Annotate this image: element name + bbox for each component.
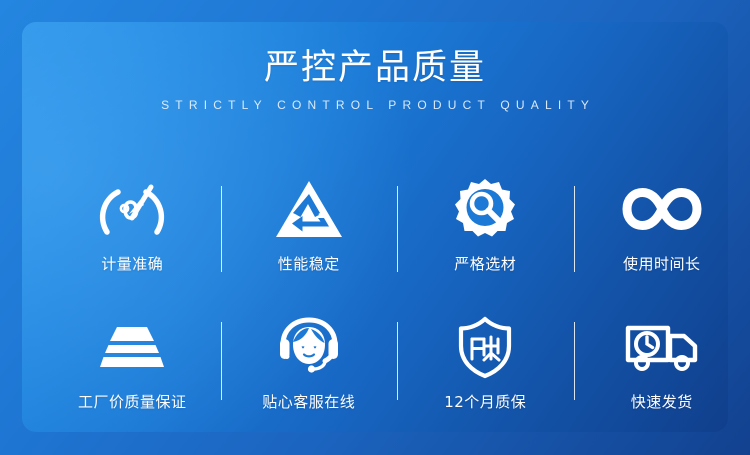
feature-label: 性能稳定 — [278, 254, 340, 275]
delivery-truck-clock-icon — [622, 310, 702, 384]
feature-label: 计量准确 — [101, 254, 163, 275]
feature-item-long-service-life[interactable]: 使用时间长 — [574, 172, 729, 275]
banner-panel: 严控产品质量 STRICTLY CONTROL PRODUCT QUALITY … — [22, 22, 728, 432]
feature-label: 12个月质保 — [444, 392, 526, 413]
feature-item-strict-material-selection[interactable]: 严格选材 — [397, 172, 574, 275]
feature-item-fast-delivery[interactable]: 快速发货 — [574, 310, 729, 413]
feature-item-12-month-warranty[interactable]: 12个月质保 — [397, 310, 574, 413]
gear-magnifier-icon — [451, 172, 519, 246]
recycle-triangle-icon — [274, 172, 344, 246]
infinity-icon — [619, 172, 705, 246]
feature-row-1: 计量准确 性能稳定 — [44, 172, 728, 275]
feature-item-online-customer-service[interactable]: 贴心客服在线 — [221, 310, 398, 413]
feature-item-factory-price-quality[interactable]: 工厂价质量保证 — [44, 310, 221, 413]
gauge-celsius-icon — [95, 172, 169, 246]
feature-row-2: 工厂价质量保证 — [44, 310, 728, 413]
feature-label: 严格选材 — [454, 254, 516, 275]
stacked-layers-icon — [94, 310, 170, 384]
feature-item-measurement-accurate[interactable]: 计量准确 — [44, 172, 221, 275]
feature-item-stable-performance[interactable]: 性能稳定 — [221, 172, 398, 275]
feature-label: 使用时间长 — [623, 254, 701, 275]
feature-label: 工厂价质量保证 — [78, 392, 187, 413]
headset-support-icon — [273, 310, 345, 384]
feature-label: 贴心客服在线 — [262, 392, 355, 413]
page-subtitle: STRICTLY CONTROL PRODUCT QUALITY — [22, 97, 728, 113]
quality-banner: 严控产品质量 STRICTLY CONTROL PRODUCT QUALITY … — [0, 0, 750, 455]
page-title: 严控产品质量 — [22, 46, 728, 90]
feature-label: 快速发货 — [631, 392, 693, 413]
shield-warranty-icon — [454, 310, 516, 384]
banner-header: 严控产品质量 STRICTLY CONTROL PRODUCT QUALITY — [22, 46, 728, 113]
